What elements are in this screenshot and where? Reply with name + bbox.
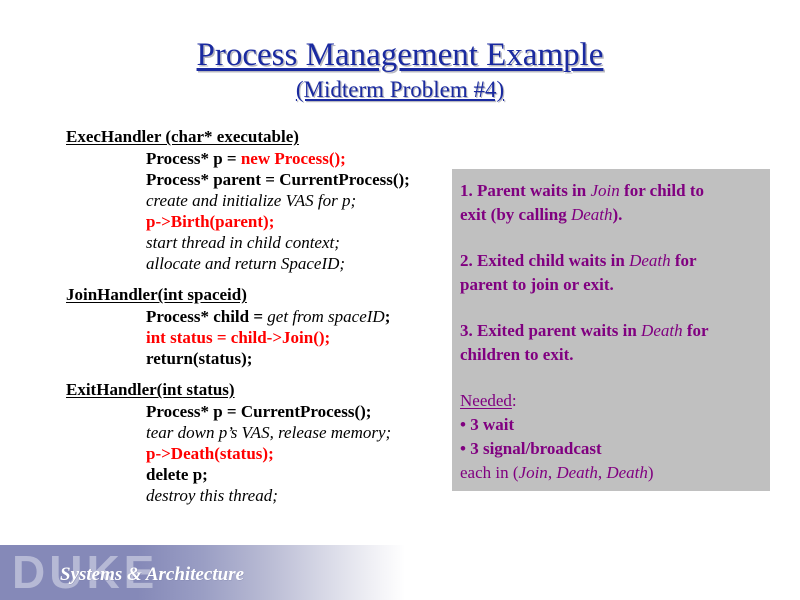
needed-summary: each in (Join, Death, Death) [460,461,758,485]
note-line: 1. Parent waits in Join for child to [460,179,758,203]
code-signature-row: JoinHandler(int spaceid) [66,284,466,306]
note-text: for [683,321,709,340]
note-spacer [460,297,758,319]
code-token: Process* p = [146,149,241,168]
note-text: 1. Parent waits in [460,181,591,200]
code-token: get from spaceID [267,307,384,326]
needed-colon: : [512,391,517,410]
needed-heading: Needed: [460,389,758,413]
note-text: children to exit. [460,345,573,364]
code-signature-row: ExitHandler(int status) [66,379,466,401]
footer-tagline: Systems & Architecture [60,563,244,587]
code-line: int status = child->Join(); [66,327,466,348]
code-signature-row: ExecHandler (char* executable) [66,126,466,148]
note-emphasis: Death [641,321,683,340]
needed-bullet: • 3 signal/broadcast [460,437,758,461]
code-line: p->Birth(parent); [66,211,466,232]
code-token: Process* child = [146,307,267,326]
code-block: ExecHandler (char* executable)Process* p… [66,126,466,274]
code-line: Process* child = get from spaceID; [66,306,466,327]
needed-bullet: • 3 wait [460,413,758,437]
note-emphasis: Join [591,181,620,200]
code-line: Process* p = CurrentProcess(); [66,401,466,422]
summary-prefix: each in ( [460,463,519,482]
note-line: 2. Exited child waits in Death for [460,249,758,273]
code-block: ExitHandler(int status)Process* p = Curr… [66,379,466,506]
note-emphasis: Death [629,251,671,270]
pseudocode-column: ExecHandler (char* executable)Process* p… [66,126,466,506]
code-line: Process* p = new Process(); [66,148,466,169]
needed-label: Needed [460,391,512,410]
footer-banner: DUKE Systems & Architecture [0,545,405,600]
code-line: create and initialize VAS for p; [66,190,466,211]
note-text: exit (by calling [460,205,571,224]
code-line: tear down p’s VAS, release memory; [66,422,466,443]
page-subtitle: (Midterm Problem #4) [0,76,800,104]
code-token: ; [385,307,391,326]
code-signature: ExecHandler (char* executable) [66,126,299,147]
code-line: delete p; [66,464,466,485]
code-signature: JoinHandler(int spaceid) [66,284,247,305]
note-text: 3. Exited parent waits in [460,321,641,340]
summary-suffix: ) [648,463,654,482]
note-text: for child to [620,181,704,200]
note-text: 2. Exited child waits in [460,251,629,270]
code-line: allocate and return SpaceID; [66,253,466,274]
note-line: exit (by calling Death). [460,203,758,227]
summary-term: Death [556,463,598,482]
summary-term: Death [606,463,648,482]
code-line: p->Death(status); [66,443,466,464]
code-block: JoinHandler(int spaceid)Process* child =… [66,284,466,369]
code-line: start thread in child context; [66,232,466,253]
note-spacer [460,227,758,249]
code-signature: ExitHandler(int status) [66,379,235,400]
code-line: return(status); [66,348,466,369]
code-line: destroy this thread; [66,485,466,506]
summary-term: Join [519,463,548,482]
note-line: 3. Exited parent waits in Death for [460,319,758,343]
note-line: parent to join or exit. [460,273,758,297]
page-title: Process Management Example [0,36,800,74]
title-block: Process Management Example (Midterm Prob… [0,36,800,104]
notes-panel: 1. Parent waits in Join for child toexit… [452,169,770,491]
code-line: Process* parent = CurrentProcess(); [66,169,466,190]
note-text: parent to join or exit. [460,275,614,294]
note-spacer [460,367,758,389]
note-text: for [671,251,697,270]
code-token: new Process(); [241,149,346,168]
note-emphasis: Death [571,205,613,224]
note-text: ). [613,205,623,224]
note-line: children to exit. [460,343,758,367]
